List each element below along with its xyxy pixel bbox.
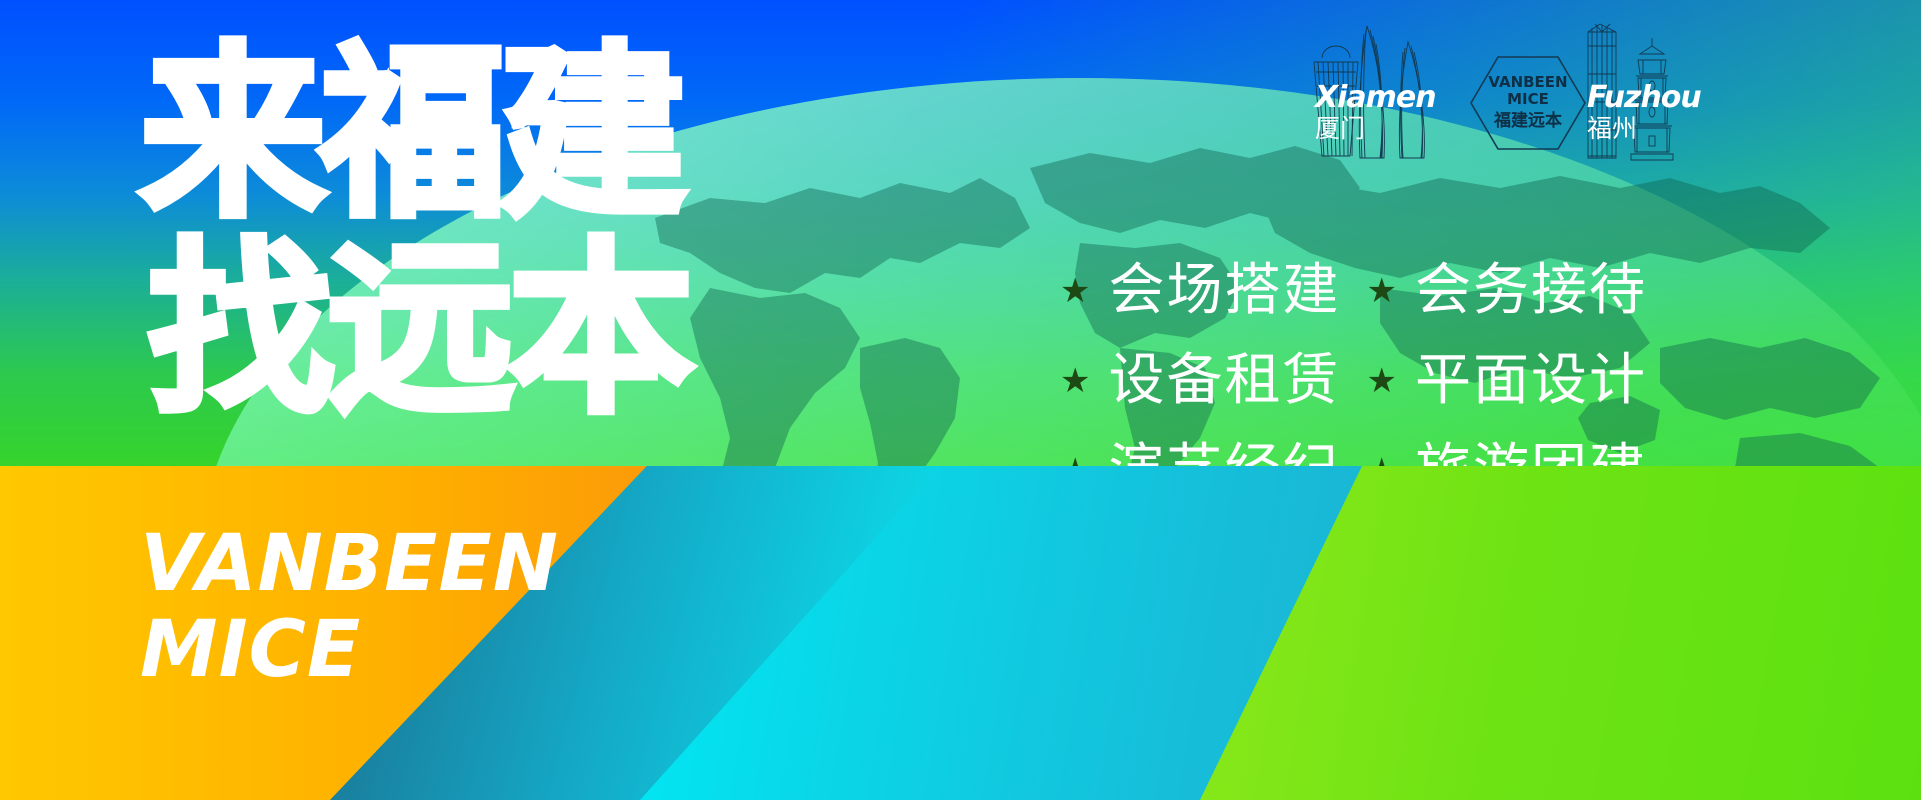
xiamen-city-label: Xiamen 厦门 (1315, 82, 1436, 144)
service-label: 会场搭建 (1108, 261, 1340, 321)
fuzhou-name-en: Fuzhou (1587, 82, 1701, 114)
service-item: ★ 会场搭建 (1060, 261, 1340, 321)
services-row: ★ 会场搭建 ★ 会务接待 (1060, 246, 1647, 336)
star-icon: ★ (1366, 454, 1396, 466)
star-icon: ★ (1060, 454, 1090, 466)
city-landmark-badge: Xiamen 厦门 Fuzhou 福州 VANBEEN MICE 福建远本 (1300, 6, 1700, 176)
service-item: ★ 旅游团建 (1366, 441, 1646, 466)
badge-vanbeen-text: VANBEEN (1468, 74, 1588, 91)
service-item: ★ 演艺经纪 (1060, 441, 1340, 466)
service-label: 设备租赁 (1108, 351, 1340, 411)
star-icon: ★ (1366, 364, 1396, 398)
star-icon: ★ (1060, 274, 1090, 308)
headline-line-1: 来福建 (140, 36, 780, 232)
star-icon: ★ (1366, 274, 1396, 308)
fuzhou-name-cn: 福州 (1587, 114, 1701, 144)
service-item: ★ 平面设计 (1366, 351, 1646, 411)
service-label: 演艺经纪 (1108, 441, 1340, 466)
xiamen-name-cn: 厦门 (1315, 114, 1436, 144)
services-row: ★ 演艺经纪 ★ 旅游团建 (1060, 426, 1647, 466)
service-label: 平面设计 (1415, 351, 1647, 411)
footer-brand-line-1: VANBEEN (140, 522, 559, 606)
badge-cn-text: 福建远本 (1468, 110, 1588, 132)
headline-line-2: 找远本 (148, 232, 780, 428)
headline: 来福建 找远本 (140, 36, 780, 428)
hero-section: 来福建 找远本 (0, 0, 1921, 466)
services-list: ★ 会场搭建 ★ 会务接待 ★ 设备租赁 ★ 平面设计 (1060, 246, 1647, 466)
footer-bar: VANBEEN MICE (0, 466, 1921, 800)
fuzhou-city-label: Fuzhou 福州 (1587, 82, 1701, 144)
vanbeen-hexagon-logo: VANBEEN MICE 福建远本 (1468, 54, 1588, 152)
service-item: ★ 设备租赁 (1060, 351, 1340, 411)
xiamen-name-en: Xiamen (1315, 82, 1436, 114)
footer-brand: VANBEEN MICE (140, 522, 559, 692)
badge-mice-text: MICE (1468, 91, 1588, 108)
service-label: 旅游团建 (1415, 441, 1647, 466)
services-row: ★ 设备租赁 ★ 平面设计 (1060, 336, 1647, 426)
service-item: ★ 会务接待 (1366, 261, 1646, 321)
star-icon: ★ (1060, 364, 1090, 398)
service-label: 会务接待 (1415, 261, 1647, 321)
footer-brand-line-2: MICE (140, 608, 559, 692)
promo-banner: 来福建 找远本 (0, 0, 1921, 800)
